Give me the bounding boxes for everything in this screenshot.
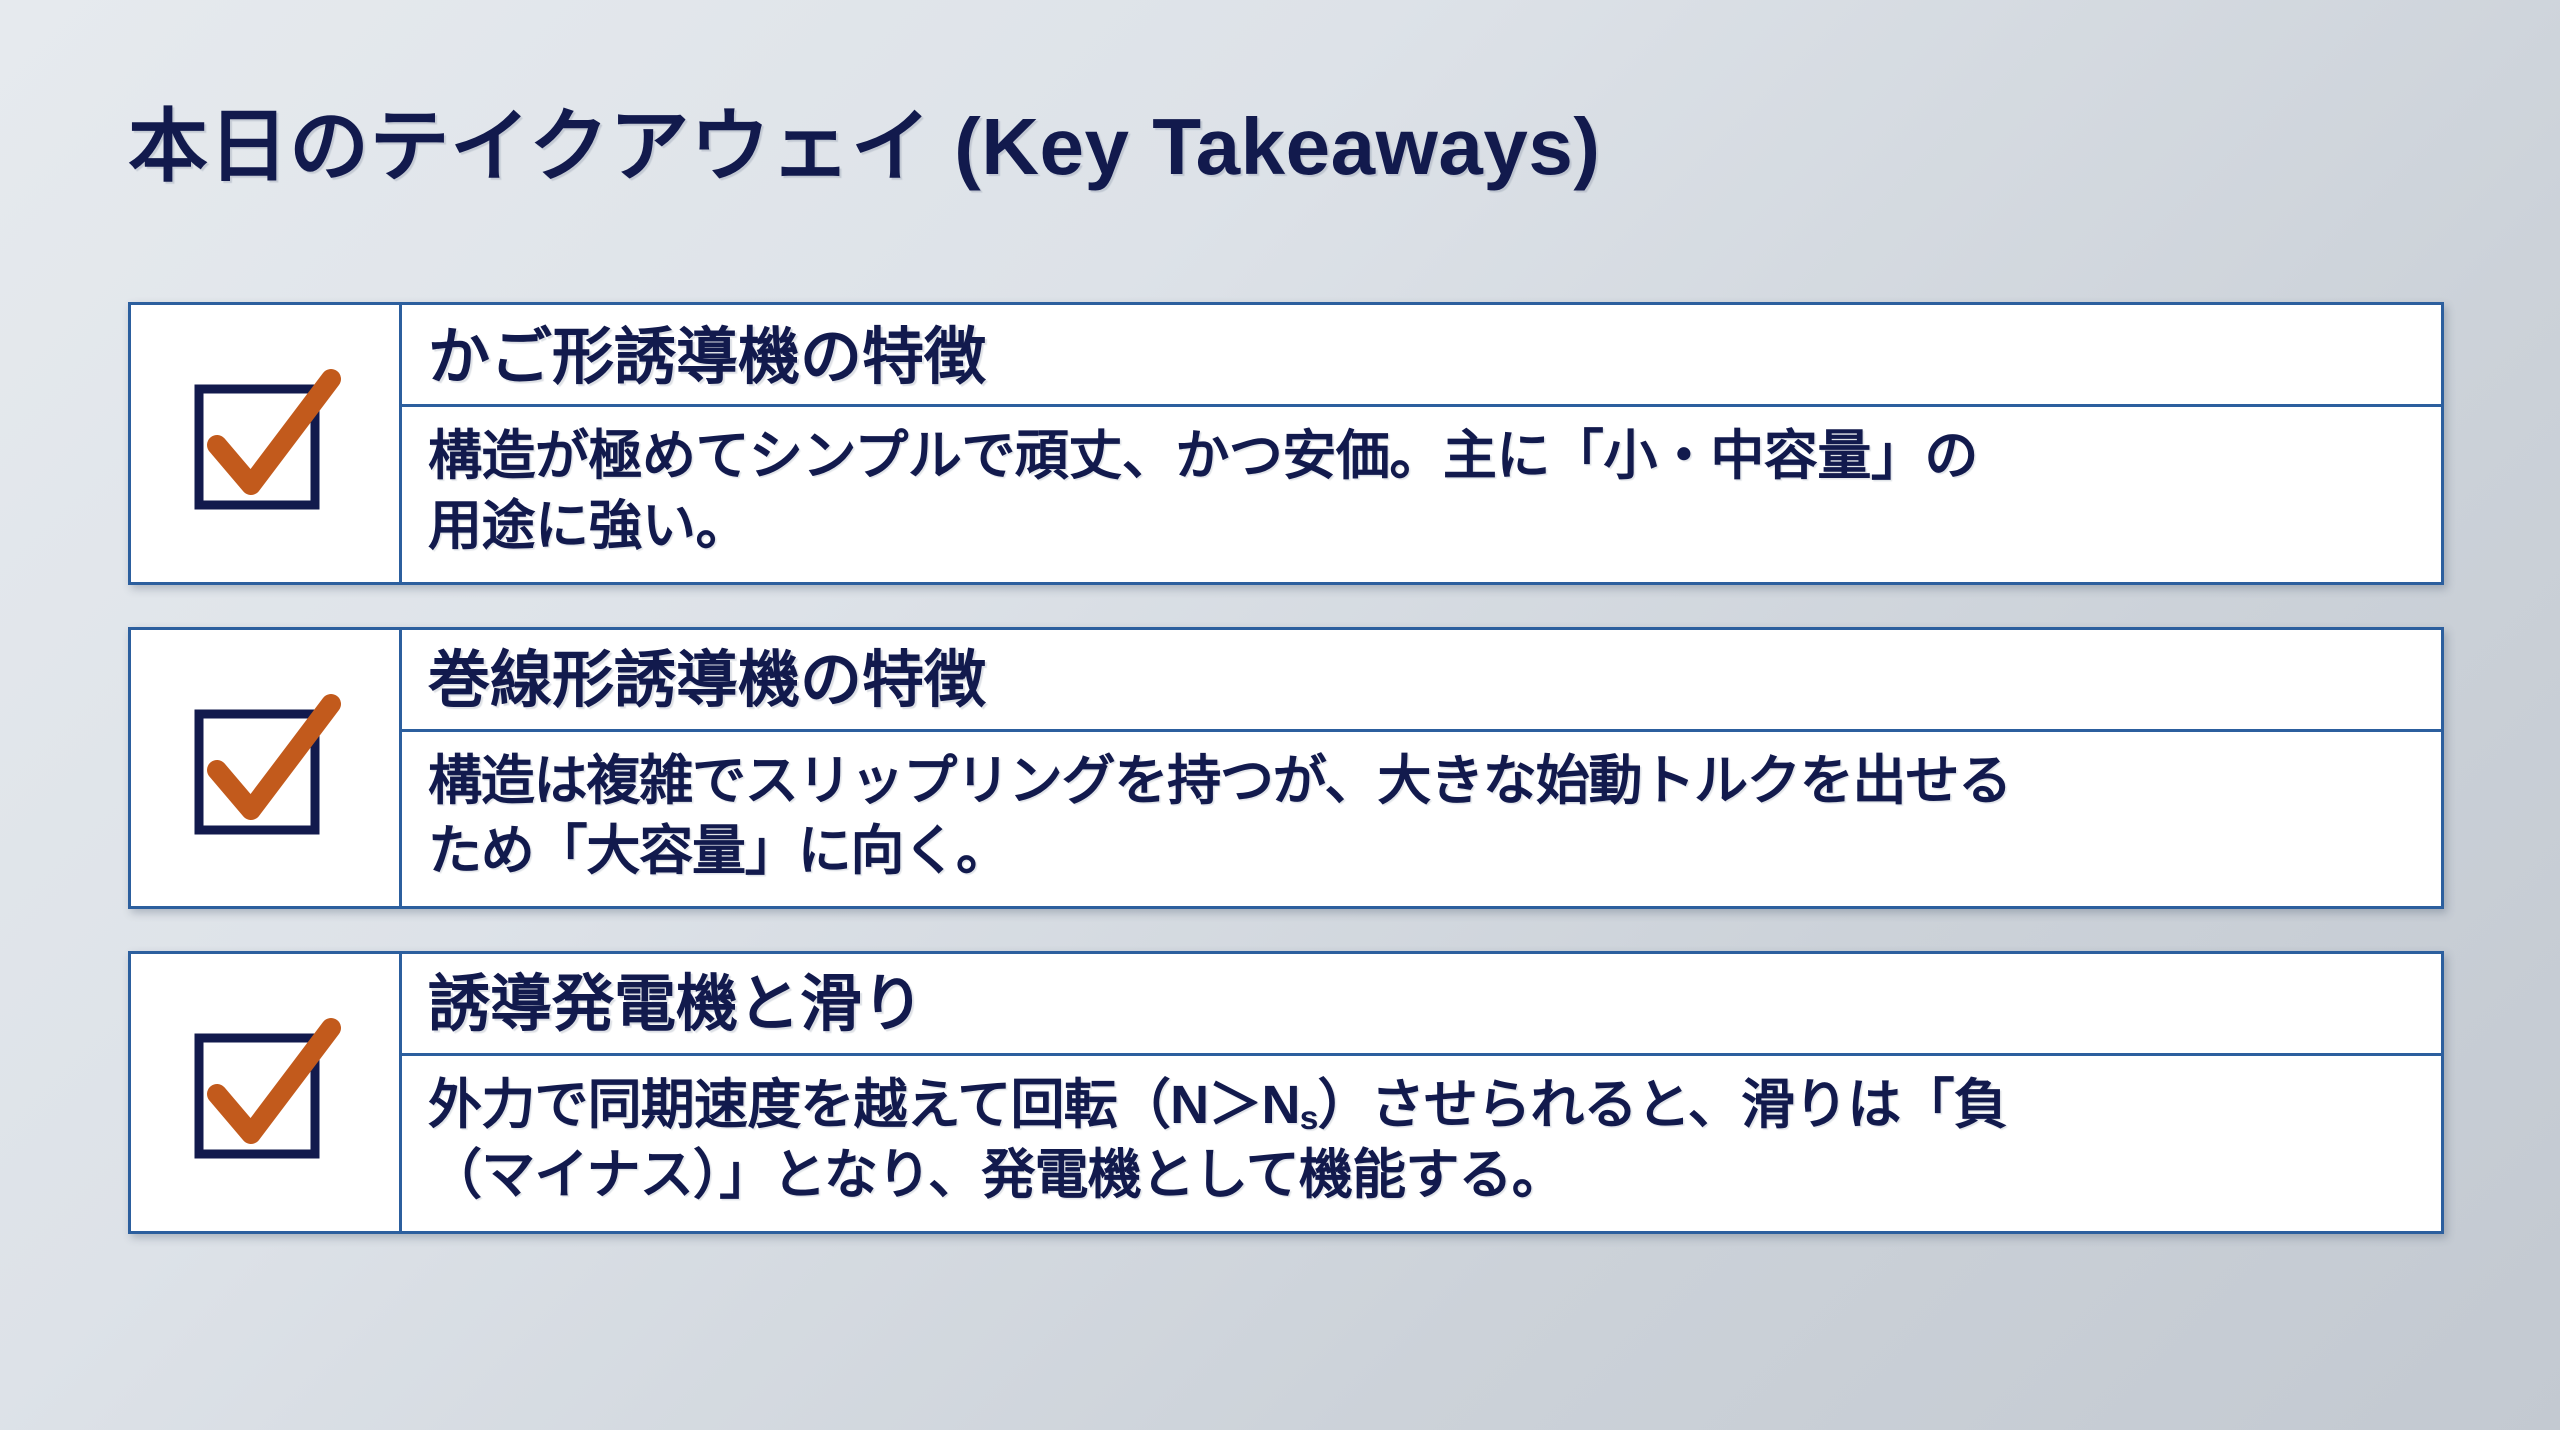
card-text-line-1: 構造は複雑でスリップリングを持つが、大きな始動トルクを出せる (428, 751, 2011, 811)
card-text: 構造が極めてシンプルで頑丈、かつ安価。主に「小・中容量」の 用途に強い。 (402, 407, 2441, 581)
slide-root: 本日のテイクアウェイ (Key Takeaways) かご形誘導機の特徴 構造が… (0, 0, 2560, 1430)
card-body: かご形誘導機の特徴 構造が極めてシンプルで頑丈、かつ安価。主に「小・中容量」の … (402, 305, 2441, 582)
checked-checkbox-icon (189, 367, 341, 519)
takeaway-card: 巻線形誘導機の特徴 構造は複雑でスリップリングを持つが、大きな始動トルクを出せる… (128, 627, 2444, 910)
card-text-line-2: 用途に強い。 (428, 496, 749, 556)
takeaway-card: 誘導発電機と滑り 外力で同期速度を越えて回転（N＞Ns）させられると、滑りは「負… (128, 951, 2444, 1234)
checkbox-cell (131, 630, 402, 907)
card-body: 巻線形誘導機の特徴 構造は複雑でスリップリングを持つが、大きな始動トルクを出せる… (402, 630, 2441, 907)
card-text: 構造は複雑でスリップリングを持つが、大きな始動トルクを出せる ため「大容量」に向… (402, 732, 2441, 906)
card-text-line-1-part-a: 外力で同期速度を越えて回転（N＞N (428, 1075, 1300, 1135)
checked-checkbox-icon (189, 1016, 341, 1168)
checkbox-cell (131, 305, 402, 582)
takeaway-card: かご形誘導機の特徴 構造が極めてシンプルで頑丈、かつ安価。主に「小・中容量」の … (128, 302, 2444, 585)
page-title: 本日のテイクアウェイ (Key Takeaways) (128, 82, 1601, 198)
checked-checkbox-icon (189, 692, 341, 844)
subscript-s: s (1300, 1100, 1318, 1137)
takeaway-card-list: かご形誘導機の特徴 構造が極めてシンプルで頑丈、かつ安価。主に「小・中容量」の … (128, 302, 2444, 1234)
card-text-line-1: 構造が極めてシンプルで頑丈、かつ安価。主に「小・中容量」の (428, 426, 1978, 486)
card-text: 外力で同期速度を越えて回転（N＞Ns）させられると、滑りは「負 （マイナス）」と… (402, 1056, 2441, 1230)
card-text-line-2: （マイナス）」となり、発電機として機能する。 (428, 1145, 1565, 1205)
card-heading: 巻線形誘導機の特徴 (402, 630, 2441, 732)
card-heading: かご形誘導機の特徴 (402, 305, 2441, 407)
card-text-line-2: ため「大容量」に向く。 (428, 821, 1009, 881)
card-body: 誘導発電機と滑り 外力で同期速度を越えて回転（N＞Ns）させられると、滑りは「負… (402, 954, 2441, 1231)
card-text-line-1-part-b: ）させられると、滑りは「負 (1318, 1075, 2007, 1135)
card-heading: 誘導発電機と滑り (402, 954, 2441, 1056)
checkbox-cell (131, 954, 402, 1231)
